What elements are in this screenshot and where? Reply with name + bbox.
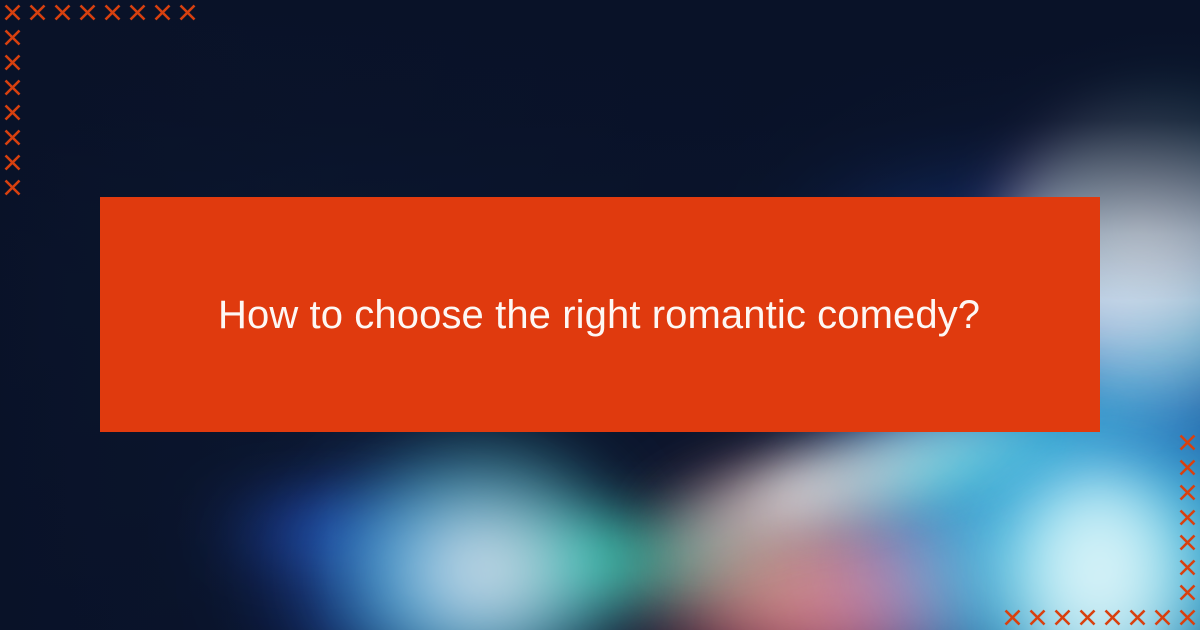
social-share-card: How to choose the right romantic comedy? xyxy=(0,0,1200,630)
page-title: How to choose the right romantic comedy? xyxy=(218,290,980,340)
title-banner: How to choose the right romantic comedy? xyxy=(100,197,1100,432)
